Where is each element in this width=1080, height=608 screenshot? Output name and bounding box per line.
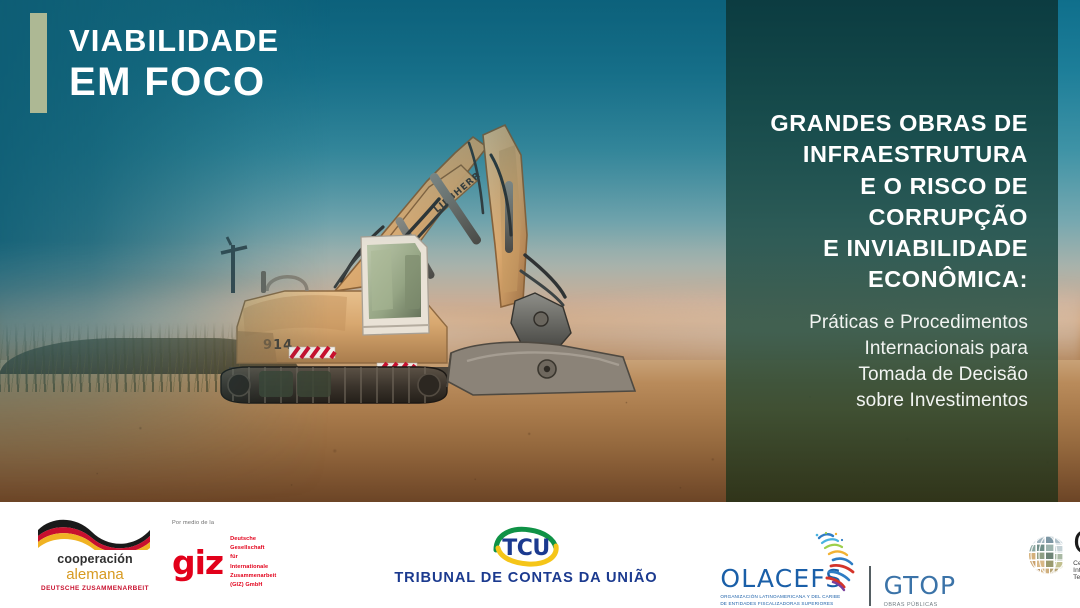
logo-giz: Por medio de la giz Deutsche Gesellschaf… [172, 502, 276, 608]
headline-line-5: E INVIABILIDADE [756, 233, 1028, 264]
svg-text:TCU: TCU [502, 536, 550, 561]
cit-subtitle: Centro de Inteligência Territorial [1073, 560, 1080, 581]
headline-line-1: GRANDES OBRAS DE [756, 108, 1028, 139]
logo-olacefs-gtop: OLACEFS ORGANIZACIÓN LATINOAMERICANA Y D… [720, 502, 956, 608]
logo-divider [869, 566, 871, 606]
olacefs-block: OLACEFS ORGANIZACIÓN LATINOAMERICANA Y D… [720, 566, 842, 608]
gtop-subtitle: OBRAS PÚBLICAS [884, 602, 957, 608]
logo-cit: CIT Centro de Inteligência Territorial [1026, 502, 1080, 608]
tcu-full-name: TRIBUNAL DE CONTAS DA UNIÃO [394, 570, 657, 586]
footer-logo-bar: cooperación alemana DEUTSCHE ZUSAMMENARB… [0, 502, 1080, 608]
german-flag-ribbon-icon [36, 518, 154, 550]
headline-content: GRANDES OBRAS DE INFRAESTRUTURA E O RISC… [726, 0, 1058, 502]
brand-accent-bar [30, 13, 47, 113]
logo-tcu: TCU TRIBUNAL DE CONTAS DA UNIÃO [394, 502, 634, 608]
headline-line-4: CORRUPÇÃO [756, 202, 1028, 233]
headline-line-6: ECONÔMICA: [756, 264, 1028, 295]
subtitle-line-2: Internacionais para [756, 336, 1028, 362]
subtitle-line-4: sobre Investimentos [756, 388, 1028, 414]
brand-line-1: VIABILIDADE [69, 25, 279, 57]
globe-icon [1026, 533, 1070, 577]
subtitle-line-1: Práticas e Procedimentos [756, 310, 1028, 336]
cit-wordmark: CIT [1073, 529, 1080, 558]
subtitle-line-3: Tomada de Decisão [756, 362, 1028, 388]
giz-desc-line-1: Deutsche Gesellschaft [230, 535, 276, 553]
headline-line-3: E O RISCO DE [756, 171, 1028, 202]
giz-wordmark: giz [172, 549, 223, 576]
gtop-wordmark: GTOP [884, 573, 957, 598]
olacefs-subtitle-line-2: DE ENTIDADES FISCALIZADORAS SUPERIORES [720, 601, 842, 608]
brand-block: VIABILIDADE EM FOCO [30, 13, 279, 113]
cit-text-block: CIT Centro de Inteligência Territorial [1073, 529, 1080, 581]
giz-desc-line-3: Zusammenarbeit (GIZ) GmbH [230, 572, 276, 590]
headline-line-2: INFRAESTRUTURA [756, 139, 1028, 170]
giz-por-medio-label: Por medio de la [172, 520, 276, 526]
german-coop-subtitle: DEUTSCHE ZUSAMMENARBEIT [36, 585, 154, 592]
logo-german-cooperation: cooperación alemana DEUTSCHE ZUSAMMENARB… [36, 502, 154, 608]
poster-canvas: LIEBHERR 914 [0, 0, 1080, 608]
gtop-block: GTOP OBRAS PÚBLICAS [884, 573, 957, 608]
headline-subtitle: Práticas e Procedimentos Internacionais … [756, 310, 1028, 415]
brand-line-2: EM FOCO [69, 61, 279, 104]
olacefs-subtitle: ORGANIZACIÓN LATINOAMERICANA Y DEL CARIB… [720, 594, 842, 608]
german-coop-word: cooperación [36, 553, 154, 566]
brand-text: VIABILIDADE EM FOCO [69, 13, 279, 104]
olacefs-subtitle-line-1: ORGANIZACIÓN LATINOAMERICANA Y DEL CARIB… [720, 594, 842, 601]
headline-title: GRANDES OBRAS DE INFRAESTRUTURA E O RISC… [756, 108, 1028, 296]
giz-desc-line-2: für Internationale [230, 553, 276, 571]
tcu-emblem-icon: TCU [478, 524, 574, 568]
giz-description: Deutsche Gesellschaft für Internationale… [230, 535, 276, 589]
german-alemana-word: alemana [36, 567, 154, 584]
headline-panel: GRANDES OBRAS DE INFRAESTRUTURA E O RISC… [726, 0, 1058, 502]
latin-america-map-icon [809, 530, 865, 592]
giz-row: giz Deutsche Gesellschaft für Internatio… [172, 535, 276, 589]
